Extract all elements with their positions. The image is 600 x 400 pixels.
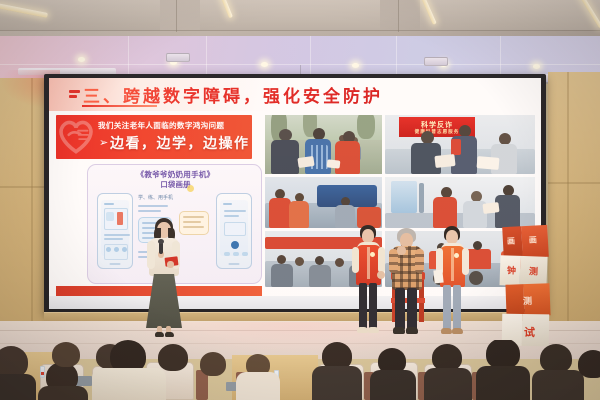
audience-head-6 (158, 344, 188, 371)
audience-head-3 (52, 342, 80, 367)
downlight-1 (78, 57, 85, 62)
banner-line-1: 我们关注老年人面临的数字鸿沟问题 (98, 120, 224, 131)
slide-title: 三、跨越数字障碍，强化安全防护 (83, 81, 383, 107)
elderly-participant (384, 228, 428, 338)
handout-paper (433, 270, 443, 284)
collage-photo-2: 科学反诈 健康科普志愿服务 (385, 115, 535, 174)
cube-1-char: 画 (507, 236, 516, 247)
slide-red-banner: 我们关注老年人面临的数字鸿沟问题 ➢ 边看，边学，边操作 (56, 115, 252, 159)
downlight-6 (533, 64, 540, 69)
volunteer-left (350, 225, 386, 340)
cube-3-char: 测 (523, 294, 532, 307)
cube-2-char-face2: 测 (529, 264, 538, 277)
booklet-subtitle: 口袋画册 (88, 179, 263, 190)
downlight-3 (261, 62, 268, 67)
volunteer-right (434, 226, 470, 340)
wall-panel-right (548, 72, 600, 350)
prop-cube-tower: 画 画 钟 测 测 试 (497, 226, 555, 346)
presenter (138, 218, 190, 340)
audience-body-white (92, 368, 166, 400)
audience-laptop (76, 376, 92, 386)
cube-1-char-face2: 画 (529, 234, 538, 245)
banner-arrow-icon: ➢ (99, 136, 108, 149)
cube-2: 钟 测 (499, 255, 547, 287)
cube-2-char: 钟 (507, 263, 516, 276)
water-bottle-1 (40, 366, 45, 378)
cube-4-char: 试 (524, 324, 535, 340)
cube-3: 测 (505, 283, 550, 317)
audience-head-7 (200, 352, 226, 376)
audience-head-14 (578, 350, 600, 378)
presenter-skirt (146, 274, 182, 328)
audience-area (0, 340, 600, 400)
ceiling-vent-1 (166, 53, 190, 62)
collage-photo-1 (265, 115, 382, 174)
phone-mockup-2 (216, 193, 252, 269)
downlight-4 (352, 63, 359, 68)
phone-mockup-1 (97, 193, 133, 269)
title-underline (82, 105, 157, 107)
collage-photo-3 (265, 177, 382, 228)
title-bullet-icon (69, 90, 80, 98)
banner-line-2: 边看，边学，边操作 (110, 133, 250, 153)
screenshot-root: 三、跨越数字障碍，强化安全防护 我们关注老年人面临的数字鸿沟问题 ➢ 边看，边学… (0, 0, 600, 400)
card-handwriting-1: 学、练、用手机 (138, 194, 173, 201)
audience-head-12 (486, 340, 520, 369)
collage-photo-4 (385, 177, 535, 228)
ceiling-vent-2 (424, 57, 448, 66)
audience-head-11 (432, 344, 462, 371)
audience-head-13 (540, 344, 572, 373)
heart-hand-logo (56, 116, 98, 158)
cube-1: 画 画 (502, 225, 549, 259)
